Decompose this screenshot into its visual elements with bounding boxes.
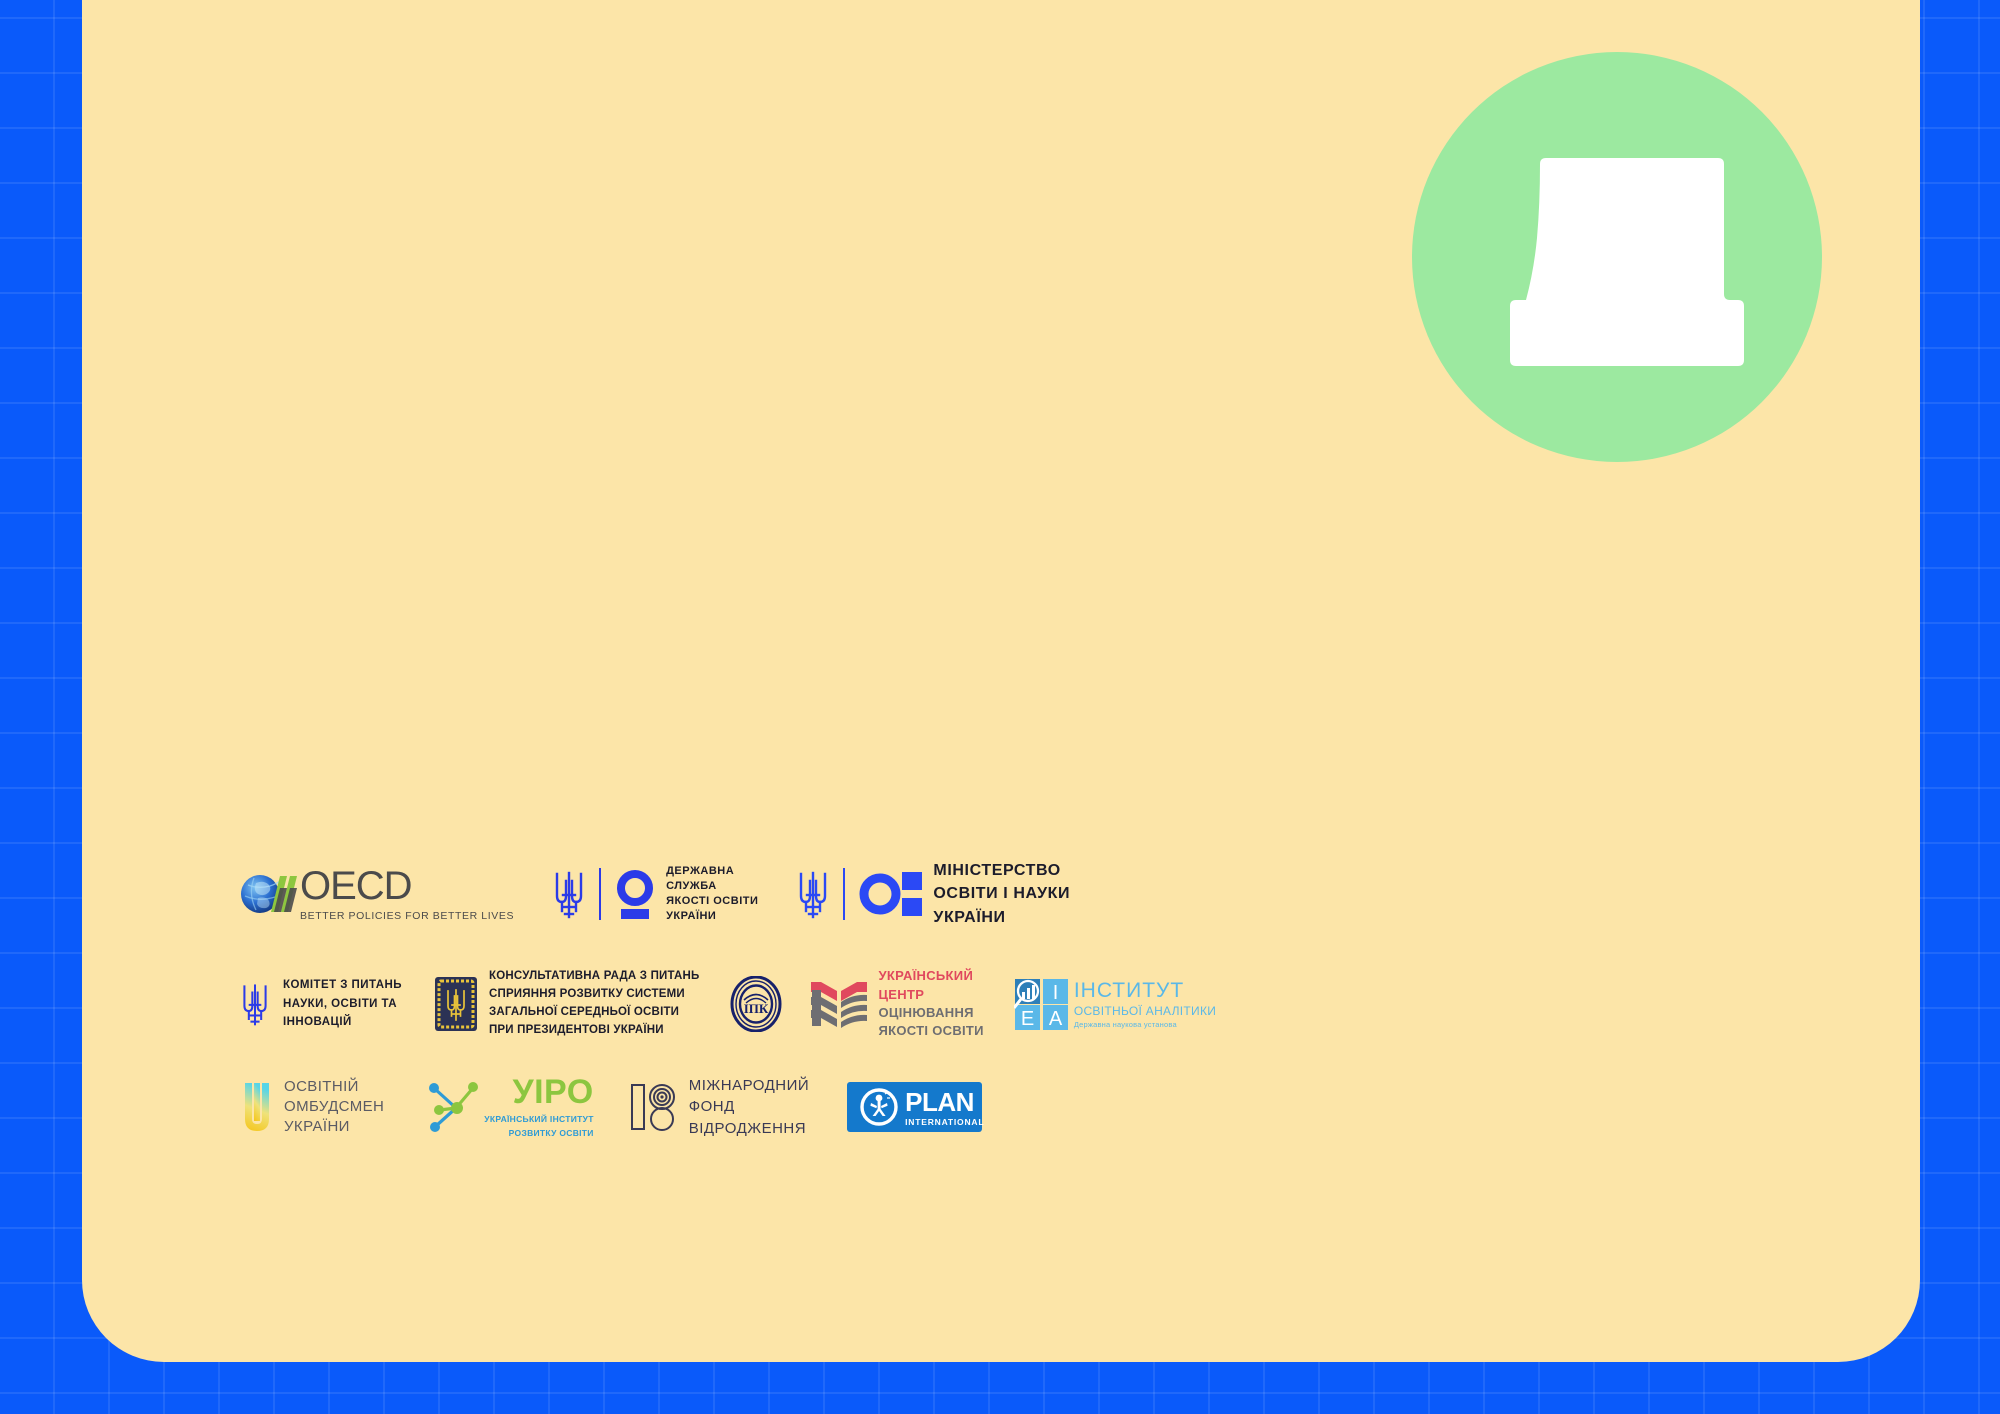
partner-row-2: КОМІТЕТ З ПИТАНЬ НАУКИ, ОСВІТИ ТА ІННОВА…: [240, 968, 1240, 1040]
ministry-text: МІНІСТЕРСТВО ОСВІТИ І НАУКИ УКРАЇНИ: [933, 859, 1070, 929]
plan-badge: PLAN INTERNATIONAL: [847, 1082, 982, 1132]
logo-ukrainian-center-education-quality: УКРАЇНСЬКИЙ ЦЕНТР ОЦІНЮВАННЯ ЯКОСТІ ОСВІ…: [808, 967, 984, 1041]
logo-institute-educational-analytics: І Е А ІНСТИТУТ ОСВІТНЬОЇ АНАЛІТИКИ Держа…: [1014, 978, 1216, 1030]
mon-emblem-icon: [858, 867, 922, 921]
uceqe-text: УКРАЇНСЬКИЙ ЦЕНТР ОЦІНЮВАННЯ ЯКОСТІ ОСВІ…: [879, 967, 984, 1041]
plan-wordmark: PLAN: [905, 1089, 984, 1115]
iea-letter-i: І: [1053, 982, 1059, 1004]
logo-divider: [843, 868, 845, 920]
university-seal-icon: ІПК: [730, 976, 782, 1032]
ukraine-trident-icon: [552, 867, 586, 921]
renaissance-text: МІЖНАРОДНИЙ ФОНД ВІДРОДЖЕННЯ: [689, 1075, 809, 1139]
brand-badge: [1412, 52, 1822, 462]
seal-monogram: ІПК: [743, 1001, 768, 1016]
partner-logo-wall: OECD BETTER POLICIES FOR BETTER LIVES: [240, 858, 1240, 1138]
logo-consultative-council: КОНСУЛЬТАТИВНА РАДА З ПИТАНЬ СПРИЯННЯ РО…: [434, 968, 700, 1039]
iea-magnifier-icon: І Е А: [1014, 978, 1070, 1030]
plan-subtitle: INTERNATIONAL: [905, 1118, 984, 1127]
council-text: КОНСУЛЬТАТИВНА РАДА З ПИТАНЬ СПРИЯННЯ РО…: [489, 968, 700, 1039]
content-card: OECD BETTER POLICIES FOR BETTER LIVES: [82, 0, 1920, 1362]
uiro-network-icon: [426, 1080, 478, 1134]
logo-education-ombudsman: ОСВІТНІЙ ОМБУДСМЕН УКРАЇНИ: [240, 1077, 384, 1136]
logo-oecd: OECD BETTER POLICIES FOR BETTER LIVES: [240, 866, 514, 922]
logo-international-renaissance-foundation: МІЖНАРОДНИЙ ФОНД ВІДРОДЖЕННЯ: [630, 1075, 809, 1139]
presidential-seal-icon: [434, 976, 478, 1032]
state-service-text: ДЕРЖАВНА СЛУЖБА ЯКОСТІ ОСВІТИ УКРАЇНИ: [666, 864, 758, 925]
open-book-icon: [808, 976, 870, 1032]
logo-state-education-quality-service: ДЕРЖАВНА СЛУЖБА ЯКОСТІ ОСВІТИ УКРАЇНИ: [552, 864, 758, 925]
sqeo-emblem-icon: [614, 867, 656, 921]
logo-parliamentary-committee: КОМІТЕТ З ПИТАНЬ НАУКИ, ОСВІТИ ТА ІННОВА…: [240, 976, 402, 1032]
renaissance-rings-icon: [630, 1081, 680, 1133]
logo-ministry-education-science: МІНІСТЕРСТВО ОСВІТИ І НАУКИ УКРАЇНИ: [796, 859, 1070, 929]
partner-row-3: ОСВІТНІЙ ОМБУДСМЕН УКРАЇНИ: [240, 1076, 1240, 1138]
iea-letter-a: А: [1049, 1008, 1063, 1030]
oecd-wordmark: OECD: [300, 866, 514, 906]
ukraine-trident-icon: [240, 979, 270, 1029]
letter-d-glyph-icon: [1412, 52, 1822, 462]
page-background: OECD BETTER POLICIES FOR BETTER LIVES: [0, 0, 2000, 1414]
partner-row-1: OECD BETTER POLICIES FOR BETTER LIVES: [240, 858, 1240, 930]
ombudsman-loop-icon: [240, 1080, 274, 1134]
logo-university-seal: ІПК: [730, 976, 782, 1032]
iea-text: ІНСТИТУТ ОСВІТНЬОЇ АНАЛІТИКИ Державна на…: [1074, 980, 1216, 1029]
logo-divider: [599, 868, 601, 920]
committee-text: КОМІТЕТ З ПИТАНЬ НАУКИ, ОСВІТИ ТА ІННОВА…: [283, 976, 402, 1032]
ombudsman-text: ОСВІТНІЙ ОМБУДСМЕН УКРАЇНИ: [284, 1077, 384, 1136]
logo-uiro: УІРО УКРАЇНСЬКИЙ ІНСТИТУТ РОЗВИТКУ ОСВІТ…: [426, 1075, 593, 1138]
ukraine-trident-icon: [796, 867, 830, 921]
oecd-globe-icon: [240, 870, 298, 918]
logo-plan-international: PLAN INTERNATIONAL: [847, 1082, 982, 1132]
uiro-text: УІРО УКРАЇНСЬКИЙ ІНСТИТУТ РОЗВИТКУ ОСВІТ…: [484, 1075, 593, 1138]
iea-letter-e: Е: [1021, 1008, 1034, 1030]
oecd-tagline: BETTER POLICIES FOR BETTER LIVES: [300, 911, 514, 922]
